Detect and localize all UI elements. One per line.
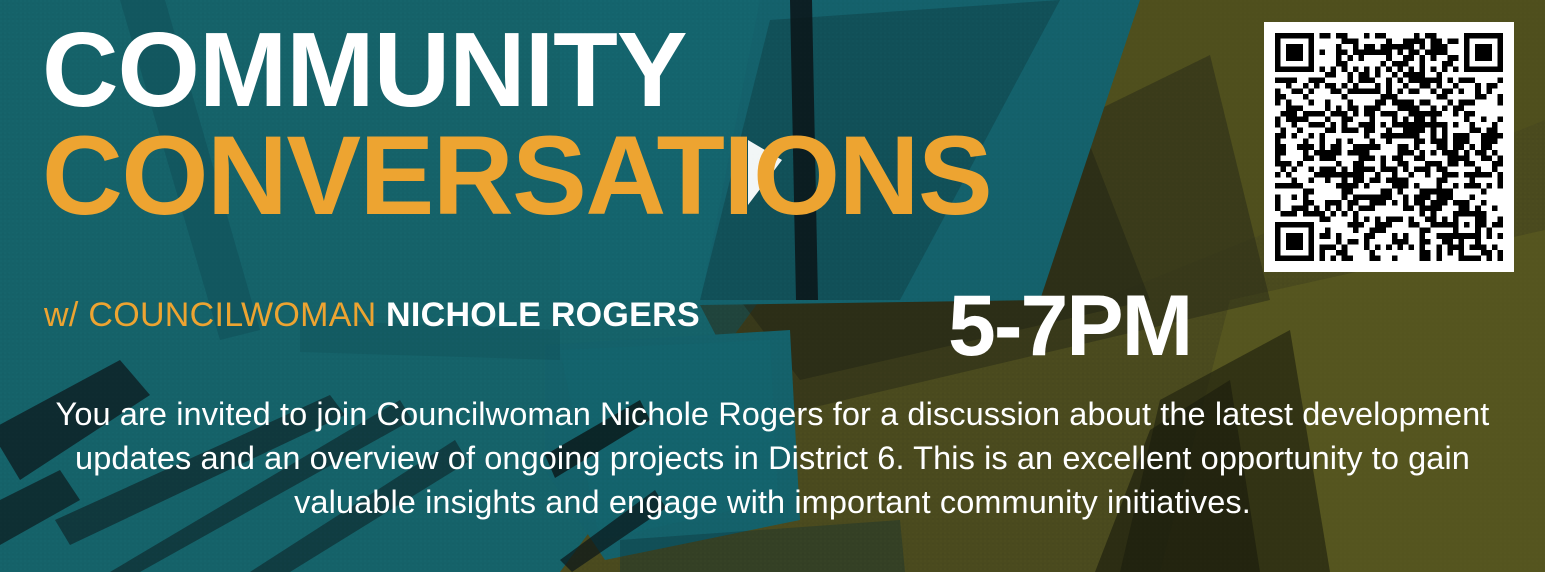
qr-code-image xyxy=(1275,33,1503,261)
flyer-content: COMMUNITY CONVERSATIONS w/ COUNCILWOMAN … xyxy=(0,0,1545,572)
headline-line-1: COMMUNITY xyxy=(42,22,991,120)
community-conversations-flyer: COMMUNITY CONVERSATIONS w/ COUNCILWOMAN … xyxy=(0,0,1545,572)
headline-line-2: CONVERSATIONS xyxy=(42,124,991,227)
subline-prefix: w/ COUNCILWOMAN xyxy=(44,296,377,334)
subline-name: NICHOLE ROGERS xyxy=(386,296,700,334)
event-time: 5-7PM xyxy=(948,283,1191,369)
body-paragraph: You are invited to join Councilwoman Nic… xyxy=(0,392,1545,525)
qr-code[interactable] xyxy=(1264,22,1514,272)
headline-block: COMMUNITY CONVERSATIONS xyxy=(42,22,991,227)
subline: w/ COUNCILWOMAN NICHOLE ROGERS xyxy=(44,298,700,332)
